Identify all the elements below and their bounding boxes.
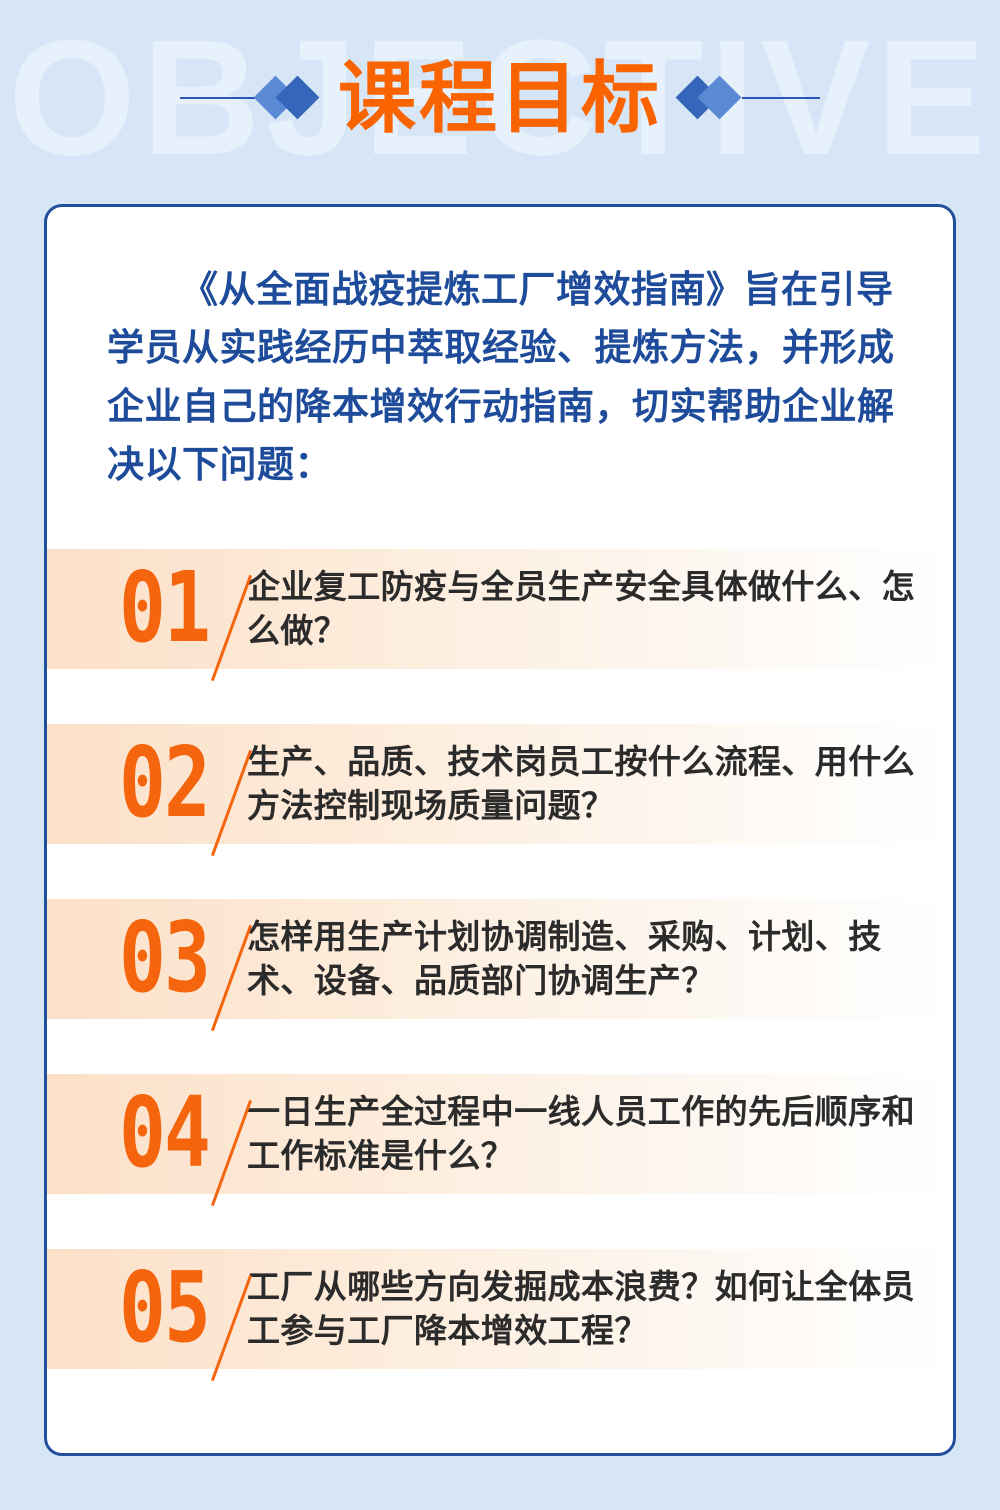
header-rule-left [180,97,258,99]
item-number: 04 [119,1085,209,1182]
list-item: 03 怎样用生产计划协调制造、采购、计划、技术、设备、品质部门协调生产？ [47,899,953,1019]
item-number-wrap: 02 [47,743,247,825]
title-decoration-row: 课程目标 [0,0,1000,196]
list-item: 05 工厂从哪些方向发掘成本浪费？如何让全体员工参与工厂降本增效工程？ [47,1249,953,1369]
list-item: 01 企业复工防疫与全员生产安全具体做什么、怎么做？ [47,549,953,669]
page-title: 课程目标 [320,59,680,137]
header-rule-right [742,97,820,99]
slash-icon [211,1100,252,1206]
intro-paragraph: 《从全面战疫提炼工厂增效指南》旨在引导学员从实践经历中萃取经验、提炼方法，并形成… [107,261,905,495]
list-item: 04 一日生产全过程中一线人员工作的先后顺序和工作标准是什么？ [47,1074,953,1194]
slash-icon [211,575,252,681]
item-number: 05 [119,1260,209,1357]
item-number: 03 [119,910,209,1007]
diamond-pair-right-icon [680,75,742,121]
item-text: 怎样用生产计划协调制造、采购、计划、技术、设备、品质部门协调生产？ [247,915,953,1003]
item-number-wrap: 03 [47,918,247,1000]
item-text: 工厂从哪些方向发掘成本浪费？如何让全体员工参与工厂降本增效工程？ [247,1265,953,1353]
objective-list: 01 企业复工防疫与全员生产安全具体做什么、怎么做？ 02 生产、品质、技术岗员… [47,549,953,1369]
item-number-wrap: 01 [47,568,247,650]
item-text: 一日生产全过程中一线人员工作的先后顺序和工作标准是什么？ [247,1090,953,1178]
slash-icon [211,750,252,856]
objective-card: 《从全面战疫提炼工厂增效指南》旨在引导学员从实践经历中萃取经验、提炼方法，并形成… [44,204,956,1456]
slash-icon [211,1275,252,1381]
item-number: 02 [119,735,209,832]
item-text: 生产、品质、技术岗员工按什么流程、用什么方法控制现场质量问题？ [247,740,953,828]
item-number-wrap: 05 [47,1268,247,1350]
item-number-wrap: 04 [47,1093,247,1175]
diamond-pair-left-icon [258,75,320,121]
item-text: 企业复工防疫与全员生产安全具体做什么、怎么做？ [247,565,953,653]
list-item: 02 生产、品质、技术岗员工按什么流程、用什么方法控制现场质量问题？ [47,724,953,844]
slash-icon [211,925,252,1031]
page-header: OBJECTIVE 课程目标 [0,0,1000,196]
item-number: 01 [119,560,209,657]
